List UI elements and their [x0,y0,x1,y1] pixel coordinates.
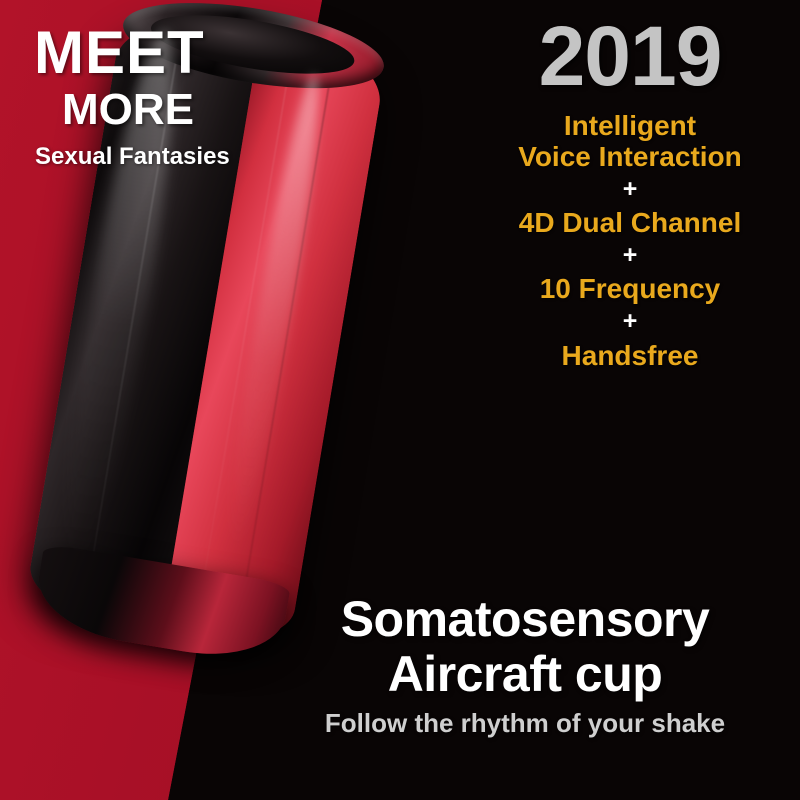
feature-separator-plus: + [460,306,800,337]
headline-meet: MEET [34,22,230,83]
product-title-line-2: Aircraft cup [250,647,800,702]
subline-sexual-fantasies: Sexual Fantasies [35,143,230,171]
advertisement-canvas: MEET MORE Sexual Fantasies 2019 Intellig… [0,0,800,800]
left-headline-block: MEET MORE Sexual Fantasies [34,22,230,171]
feature-item-4d-dual-channel: 4D Dual Channel [460,206,800,239]
bottom-headline-block: Somatosensory Aircraft cup Follow the rh… [250,592,800,739]
right-feature-block: 2019 Intelligent Voice Interaction + 4D … [460,14,800,372]
product-tagline: Follow the rhythm of your shake [250,708,800,739]
product-title-line-1: Somatosensory [250,592,800,647]
feature-item-voice-interaction: Voice Interaction [460,141,800,172]
feature-item-10-frequency: 10 Frequency [460,272,800,305]
headline-more: MORE [62,87,230,133]
feature-item-intelligent: Intelligent [460,110,800,141]
feature-item-handsfree: Handsfree [460,339,800,372]
feature-separator-plus: + [460,240,800,271]
feature-separator-plus: + [460,174,800,205]
feature-list: Intelligent Voice Interaction + 4D Dual … [460,110,800,372]
year-label: 2019 [460,14,800,98]
